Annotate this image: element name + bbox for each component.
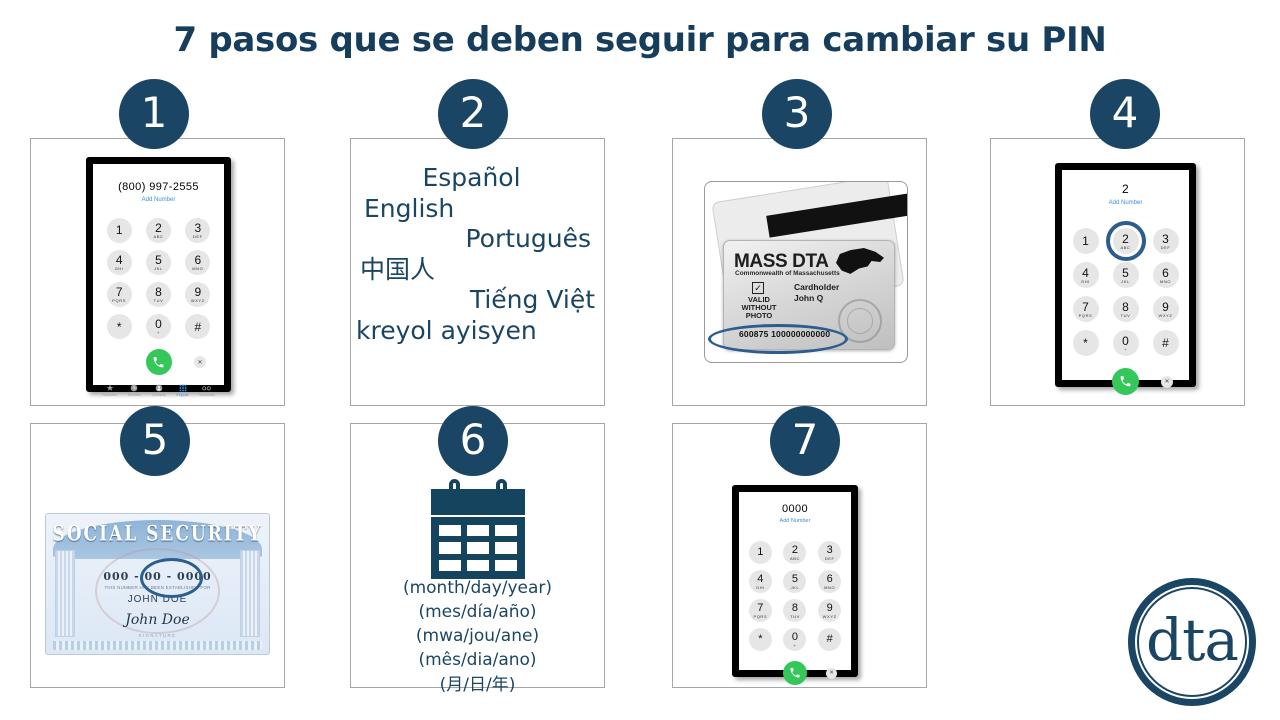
key-star[interactable]: * — [1073, 330, 1099, 356]
key-digit: 7 — [116, 286, 123, 298]
key-digit: 2 — [155, 222, 162, 234]
phone-mock-step4: 2 Add Number 1 2 ABC 3 DEF 4 GHI 5 JKL 6… — [1055, 163, 1196, 387]
key-letters: DEF — [825, 557, 835, 561]
tab-keypad[interactable]: Keypad — [177, 384, 189, 397]
key-digit: 2 — [792, 545, 798, 556]
key-digit: * — [1083, 337, 1088, 349]
key-9[interactable]: 9 WXYZ — [185, 282, 210, 307]
valid-without-photo-text: VALIDWITHOUTPHOTO — [734, 296, 784, 320]
key-digit: 0 — [155, 318, 162, 330]
dialer-keypad-step1[interactable]: 1 2 ABC 3 DEF 4 GHI 5 JKL 6 MNO 7 PQRS — [100, 218, 218, 339]
key-letters: WXYZ — [823, 615, 837, 619]
key-9[interactable]: 9 WXYZ — [1153, 296, 1179, 322]
key-digit: 5 — [1122, 267, 1129, 279]
delete-backspace-icon[interactable]: ✕ — [826, 668, 837, 679]
tab-recents[interactable]: Recents — [128, 384, 141, 397]
tab-contacts[interactable]: Contacts — [152, 384, 166, 397]
dialer-keypad-step4[interactable]: 1 2 ABC 3 DEF 4 GHI 5 JKL 6 MNO 7 PQRS — [1066, 228, 1186, 356]
key-digit: 1 — [1082, 235, 1089, 247]
key-digit: 0 — [792, 632, 798, 643]
key-letters: + — [794, 644, 797, 648]
key-letters: JKL — [154, 267, 163, 271]
key-digit: 8 — [792, 603, 798, 614]
key-6[interactable]: 6 MNO — [1153, 262, 1179, 288]
key-4[interactable]: 4 GHI — [107, 250, 132, 275]
key-digit: 7 — [1082, 301, 1089, 313]
calendar-cell — [467, 525, 489, 536]
voicemail-icon — [202, 384, 211, 392]
key-4[interactable]: 4 GHI — [749, 570, 772, 593]
call-button[interactable] — [1112, 368, 1139, 395]
key-7[interactable]: 7 PQRS — [749, 599, 772, 622]
key-letters: JKL — [791, 586, 800, 590]
calendar-grid — [431, 517, 525, 579]
ssn-card-title: SOCIAL SECURITY — [46, 521, 269, 546]
language-chinese[interactable]: 中国人 — [352, 255, 603, 286]
dta-logo: dta — [1128, 578, 1256, 706]
calendar-cell — [439, 560, 461, 571]
key-5[interactable]: 5 JKL — [783, 570, 806, 593]
add-number-link[interactable]: Add Number — [780, 518, 811, 524]
tab-favorites[interactable]: Favorites — [102, 384, 117, 397]
key-3[interactable]: 3 DEF — [1153, 228, 1179, 254]
keypad-icon — [179, 384, 187, 392]
key-letters: WXYZ — [191, 299, 205, 303]
cardholder-block: Cardholder John Q — [794, 282, 839, 303]
key-digit: 3 — [1162, 233, 1169, 245]
key-digit: 6 — [194, 254, 201, 266]
key-letters: GHI — [1081, 280, 1090, 284]
step-number-7: 7 — [770, 406, 840, 476]
phone-mock-step7: 0000 Add Number 1 2 ABC 3 DEF 4 GHI 5 JK… — [732, 485, 858, 677]
person-icon — [155, 384, 163, 392]
key-digit: 4 — [1082, 267, 1089, 279]
delete-backspace-icon[interactable]: ✕ — [194, 356, 206, 368]
key-1[interactable]: 1 — [749, 541, 772, 564]
key-letters: PQRS — [112, 299, 126, 303]
add-number-link[interactable]: Add Number — [1109, 200, 1143, 206]
key-letters: MNO — [192, 267, 203, 271]
calendar-cell — [495, 525, 517, 536]
language-portugues[interactable]: Português — [352, 224, 603, 255]
key-letters: ABC — [153, 235, 163, 239]
key-letters: GHI — [756, 586, 765, 590]
card-number-highlight-ellipse — [708, 324, 848, 354]
key-digit: 1 — [116, 224, 123, 236]
step-number-4: 4 — [1090, 79, 1160, 149]
date-format-en: (month/day/year) — [350, 576, 605, 600]
step-number-1: 1 — [119, 79, 189, 149]
key-6[interactable]: 6 MNO — [185, 250, 210, 275]
key-2[interactable]: 2 ABC — [1113, 228, 1139, 254]
key-7[interactable]: 7 PQRS — [1073, 296, 1099, 322]
key-8[interactable]: 8 TUV — [1113, 296, 1139, 322]
tab-label: Favorites — [102, 393, 117, 397]
valid-checkbox-icon: ✓ — [752, 282, 764, 294]
key-letters: MNO — [1160, 280, 1171, 284]
key-digit: # — [194, 321, 201, 333]
massachusetts-map-icon — [836, 248, 884, 275]
key-digit: 6 — [827, 574, 833, 585]
logo-text: dta — [1128, 578, 1256, 706]
key-5[interactable]: 5 JKL — [1113, 262, 1139, 288]
key-digit: 5 — [792, 574, 798, 585]
key-hash[interactable]: # — [818, 628, 841, 651]
phone-display-number: 0000 — [782, 503, 808, 515]
key-letters: GHI — [115, 267, 124, 271]
phone-mock-step1: (800) 997-2555 Add Number 1 2 ABC 3 DEF … — [86, 157, 231, 392]
step-number-6: 6 — [438, 406, 508, 476]
tab-voicemail[interactable]: Voicemail — [199, 384, 214, 397]
ssn-signature: John Doe — [46, 612, 269, 628]
cardholder-name: John Q — [794, 293, 823, 303]
phone-tab-bar[interactable]: Favorites Recents Contacts Keypad Voicem… — [93, 384, 224, 397]
key-0[interactable]: 0 + — [783, 628, 806, 651]
key-letters: JKL — [1121, 280, 1130, 284]
key-3[interactable]: 3 DEF — [818, 541, 841, 564]
dialer-keypad-step7[interactable]: 1 2 ABC 3 DEF 4 GHI 5 JKL 6 MNO 7 PQRS — [743, 541, 847, 651]
key-1[interactable]: 1 — [1073, 228, 1099, 254]
key-2[interactable]: 2 ABC — [783, 541, 806, 564]
key-digit: 2 — [1122, 233, 1129, 245]
key-9[interactable]: 9 WXYZ — [818, 599, 841, 622]
calendar-cell — [439, 542, 461, 553]
language-espanol[interactable]: Español — [352, 163, 603, 194]
key-digit: 6 — [1162, 267, 1169, 279]
key-digit: 4 — [116, 254, 123, 266]
key-letters: + — [157, 331, 160, 335]
calendar-header — [431, 489, 525, 515]
key-7[interactable]: 7 PQRS — [107, 282, 132, 307]
key-letters: ABC — [790, 557, 800, 561]
key-letters: PQRS — [1079, 314, 1093, 318]
clock-icon — [130, 384, 138, 392]
key-hash[interactable]: # — [1153, 330, 1179, 356]
key-2[interactable]: 2 ABC — [146, 218, 171, 243]
key-digit: 7 — [757, 603, 763, 614]
delete-backspace-icon[interactable]: ✕ — [1161, 376, 1173, 388]
date-format-pt: (mês/dia/ano) — [350, 648, 605, 672]
tab-label: Recents — [128, 393, 141, 397]
step-number-2: 2 — [438, 79, 508, 149]
key-digit: 0 — [1122, 335, 1129, 347]
calendar-cell — [495, 560, 517, 571]
add-number-link[interactable]: Add Number — [142, 197, 176, 203]
page-title: 7 pasos que se deben seguir para cambiar… — [0, 20, 1280, 60]
date-format-ht: (mwa/jou/ane) — [350, 624, 605, 648]
call-button[interactable] — [146, 349, 172, 375]
call-button[interactable] — [783, 661, 807, 685]
card-subtitle: Commonwealth of Massachusetts — [735, 270, 840, 277]
key-digit: 3 — [194, 222, 201, 234]
key-8[interactable]: 8 TUV — [146, 282, 171, 307]
language-haitian-creole[interactable]: kreyol ayisyen — [352, 316, 603, 347]
key-digit: 9 — [194, 286, 201, 298]
key-digit: 8 — [1122, 301, 1129, 313]
key-0[interactable]: 0 + — [1113, 330, 1139, 356]
key-digit: 9 — [1162, 301, 1169, 313]
key-letters: DEF — [1161, 246, 1171, 250]
key-6[interactable]: 6 MNO — [818, 570, 841, 593]
key-letters: DEF — [193, 235, 203, 239]
language-vietnamese[interactable]: Tiếng Việt — [352, 285, 603, 316]
signature-label: SIGNATURE — [46, 633, 269, 638]
bottom-border-decor — [53, 641, 263, 649]
key-4[interactable]: 4 GHI — [1073, 262, 1099, 288]
key-0[interactable]: 0 + — [146, 314, 171, 339]
ssn-highlight-ellipse — [140, 558, 203, 598]
key-hash[interactable]: # — [185, 314, 210, 339]
key-digit: 1 — [757, 547, 763, 558]
key-8[interactable]: 8 TUV — [783, 599, 806, 622]
key-digit: # — [827, 634, 833, 645]
phone-display-number: (800) 997-2555 — [118, 181, 199, 193]
key-1[interactable]: 1 — [107, 218, 132, 243]
key-3[interactable]: 3 DEF — [185, 218, 210, 243]
key-digit: * — [758, 634, 762, 645]
cardholder-label: Cardholder — [794, 282, 839, 292]
date-format-zh: (月/日/年) — [350, 673, 605, 697]
key-digit: 4 — [757, 574, 763, 585]
key-5[interactable]: 5 JKL — [146, 250, 171, 275]
calendar-icon — [431, 479, 525, 579]
key-digit: * — [117, 321, 122, 333]
key-digit: 9 — [827, 603, 833, 614]
tab-label: Keypad — [177, 393, 189, 397]
star-icon — [106, 384, 114, 392]
key-letters: PQRS — [753, 615, 767, 619]
ebt-card-figure: MASS DTA Commonwealth of Massachusetts ✓… — [704, 181, 908, 363]
key-letters: WXYZ — [1159, 314, 1173, 318]
key-letters: TUV — [1121, 314, 1131, 318]
language-list: Español English Português 中国人 Tiếng Việt… — [352, 163, 603, 346]
date-format-es: (mes/día/año) — [350, 600, 605, 624]
key-letters: ABC — [1120, 246, 1130, 250]
slide-canvas: 7 pasos que se deben seguir para cambiar… — [0, 0, 1280, 720]
key-digit: 3 — [827, 545, 833, 556]
language-english[interactable]: English — [352, 194, 603, 225]
calendar-cell — [467, 542, 489, 553]
key-star[interactable]: * — [749, 628, 772, 651]
calendar-cell — [495, 542, 517, 553]
phone-display-number: 2 — [1122, 182, 1129, 196]
tab-label: Contacts — [152, 393, 166, 397]
step-number-3: 3 — [762, 79, 832, 149]
step-number-5: 5 — [120, 406, 190, 476]
tab-label: Voicemail — [199, 393, 214, 397]
key-digit: 8 — [155, 286, 162, 298]
key-letters: TUV — [790, 615, 800, 619]
date-format-list: (month/day/year) (mes/día/año) (mwa/jou/… — [350, 576, 605, 697]
calendar-cell — [439, 525, 461, 536]
calendar-cell — [467, 560, 489, 571]
key-letters: MNO — [824, 586, 835, 590]
key-digit: # — [1162, 337, 1169, 349]
key-star[interactable]: * — [107, 314, 132, 339]
key-letters: + — [1124, 348, 1127, 352]
key-letters: TUV — [154, 299, 164, 303]
key-digit: 5 — [155, 254, 162, 266]
